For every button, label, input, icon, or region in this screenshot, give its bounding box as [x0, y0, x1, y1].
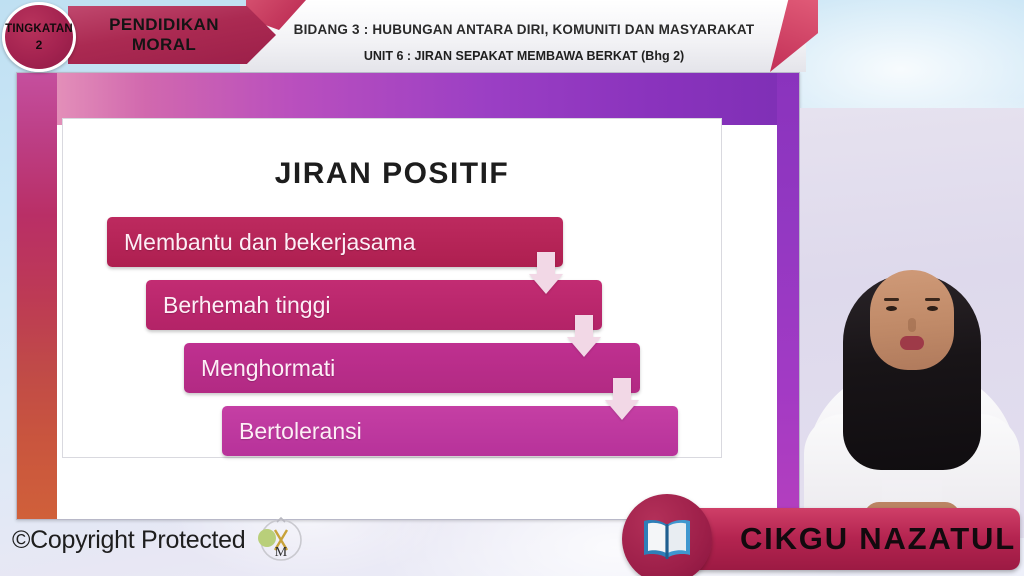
arrow-down-icon: [605, 378, 639, 420]
unit-heading: UNIT 6 : JIRAN SEPAKAT MEMBAWA BERKAT (B…: [250, 49, 798, 63]
concept-bar-1: Membantu dan bekerjasama: [107, 217, 563, 267]
presenter-eye-right: [927, 306, 938, 311]
bidang-heading: BIDANG 3 : HUBUNGAN ANTARA DIRI, KOMUNIT…: [250, 22, 798, 37]
concept-bar-2-label: Berhemah tinggi: [163, 292, 331, 319]
arrow-down-icon: [567, 315, 601, 357]
brand-plate: CIKGU NAZATUL: [644, 508, 1020, 570]
concept-bar-3-label: Menghormati: [201, 355, 335, 382]
open-book-icon: [640, 517, 694, 561]
subject-title-line2: MORAL: [132, 35, 196, 55]
frame-left-gradient-strip: [17, 73, 57, 519]
concept-bar-4-label: Bertoleransi: [239, 418, 362, 445]
concept-bar-1-label: Membantu dan bekerjasama: [124, 229, 416, 256]
presenter-eyebrow-right: [925, 298, 940, 301]
copyright-row: ©Copyright Protected M: [12, 514, 305, 566]
presenter-eye-left: [886, 306, 897, 311]
xm-monogram-logo: M: [253, 514, 305, 566]
arrow-down-icon: [529, 252, 563, 294]
frame-right-gradient-strip: [777, 73, 799, 519]
tingkatan-number: 2: [36, 38, 43, 52]
brand-logo-circle: [622, 494, 712, 576]
brand-name: CIKGU NAZATUL: [740, 521, 1016, 557]
presenter-face: [870, 270, 954, 370]
presenter-mouth: [900, 336, 924, 350]
slide-title: JIRAN POSITIF: [63, 157, 721, 191]
copyright-text: ©Copyright Protected: [12, 526, 245, 555]
svg-text:M: M: [275, 545, 288, 560]
tingkatan-label: TINGKATAN: [5, 23, 73, 35]
subject-banner: PENDIDIKAN MORAL: [68, 6, 276, 64]
subject-title-line1: PENDIDIKAN: [109, 15, 219, 35]
header-band: BIDANG 3 : HUBUNGAN ANTARA DIRI, KOMUNIT…: [0, 0, 1024, 72]
tingkatan-badge: TINGKATAN 2: [2, 2, 76, 72]
presenter-video-feed: [800, 108, 1024, 538]
presenter-eyebrow-left: [884, 298, 899, 301]
presenter-nose: [908, 318, 916, 332]
